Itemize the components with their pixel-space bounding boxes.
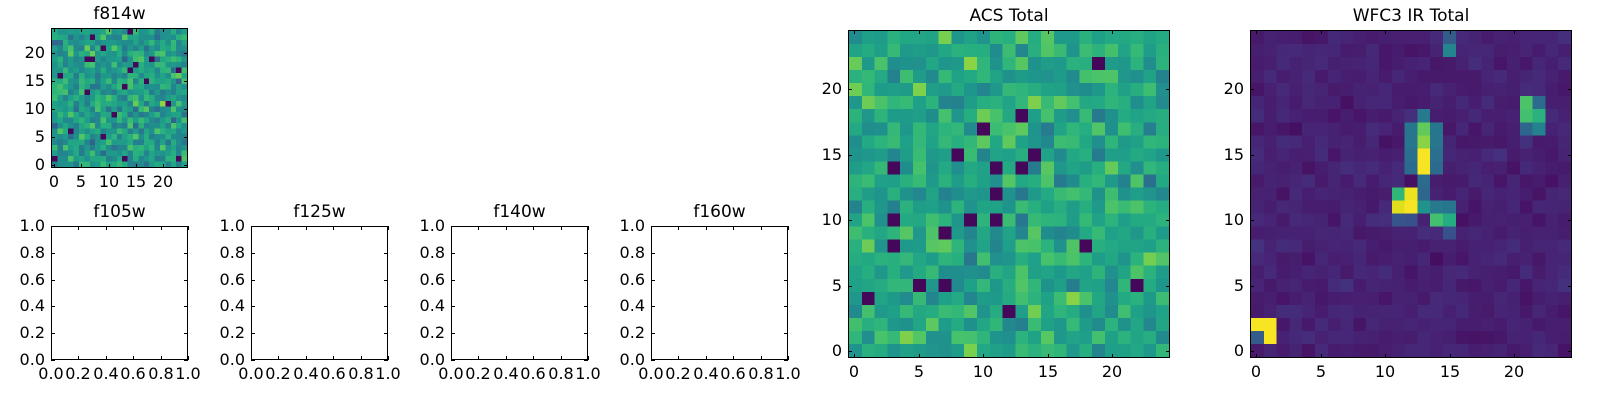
panel-wfc3-ir-total: WFC3 IR Total0510152005101520 [0,0,1600,400]
xtick-top-wfc3-ir-total-2 [1385,30,1386,34]
xtick-top-wfc3-ir-total-1 [1321,30,1322,34]
ytick-right-wfc3-ir-total-0 [1568,351,1572,352]
xtick-wfc3-ir-total-2 [1385,354,1386,358]
xtick-wfc3-ir-total-0 [1256,354,1257,358]
figure-canvas: f814w0510152005101520f105w0.00.20.40.60.… [0,0,1600,400]
ytick-right-wfc3-ir-total-2 [1568,220,1572,221]
yticklabel-wfc3-ir-total-0: 0 [1202,343,1244,359]
yticklabel-wfc3-ir-total-4: 20 [1202,81,1244,97]
yticklabel-wfc3-ir-total-1: 5 [1202,278,1244,294]
ytick-right-wfc3-ir-total-4 [1568,89,1572,90]
xticklabel-wfc3-ir-total-1: 5 [1316,364,1326,380]
ytick-wfc3-ir-total-0 [1250,351,1254,352]
panel-title-wfc3-ir-total: WFC3 IR Total [1250,8,1572,25]
yticklabel-wfc3-ir-total-2: 10 [1202,212,1244,228]
ytick-wfc3-ir-total-3 [1250,155,1254,156]
ytick-wfc3-ir-total-1 [1250,286,1254,287]
ytick-right-wfc3-ir-total-1 [1568,286,1572,287]
xtick-wfc3-ir-total-4 [1514,354,1515,358]
axes-wfc3-ir-total [1250,30,1572,358]
ytick-right-wfc3-ir-total-3 [1568,155,1572,156]
ytick-wfc3-ir-total-2 [1250,220,1254,221]
xtick-wfc3-ir-total-3 [1450,354,1451,358]
xticklabel-wfc3-ir-total-3: 15 [1440,364,1460,380]
xtick-top-wfc3-ir-total-4 [1514,30,1515,34]
xticklabel-wfc3-ir-total-4: 20 [1504,364,1524,380]
xticklabel-wfc3-ir-total-0: 0 [1251,364,1261,380]
xtick-wfc3-ir-total-1 [1321,354,1322,358]
xticklabel-wfc3-ir-total-2: 10 [1375,364,1395,380]
xtick-top-wfc3-ir-total-3 [1450,30,1451,34]
xtick-top-wfc3-ir-total-0 [1256,30,1257,34]
ytick-wfc3-ir-total-4 [1250,89,1254,90]
yticklabel-wfc3-ir-total-3: 15 [1202,147,1244,163]
heatmap-wfc3-ir-total [1251,31,1571,357]
